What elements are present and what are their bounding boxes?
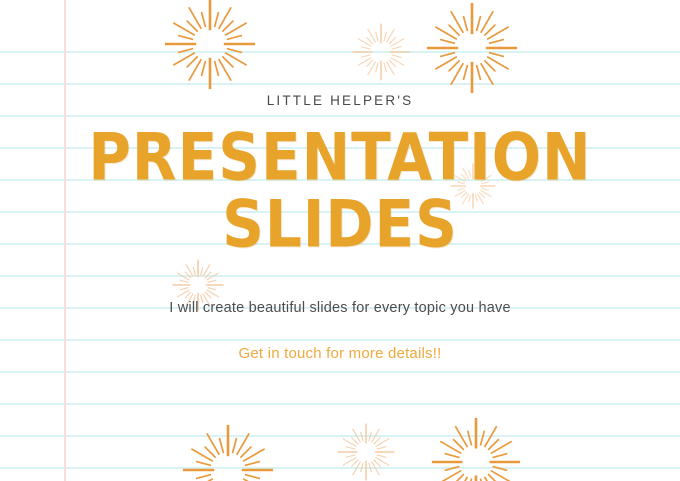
title-line-presentation: PRESENTATION bbox=[0, 128, 680, 188]
call-to-action-text: Get in touch for more details!! bbox=[0, 345, 680, 362]
slide-content: LITTLE HELPER'S PRESENTATION SLIDES I wi… bbox=[0, 0, 680, 481]
title-line-slides: SLIDES bbox=[0, 195, 680, 255]
kicker-text: LITTLE HELPER'S bbox=[0, 93, 680, 108]
presentation-slide: LITTLE HELPER'S PRESENTATION SLIDES I wi… bbox=[0, 0, 680, 481]
slide-title: PRESENTATION SLIDES bbox=[0, 128, 680, 249]
tagline-text: I will create beautiful slides for every… bbox=[0, 300, 680, 316]
